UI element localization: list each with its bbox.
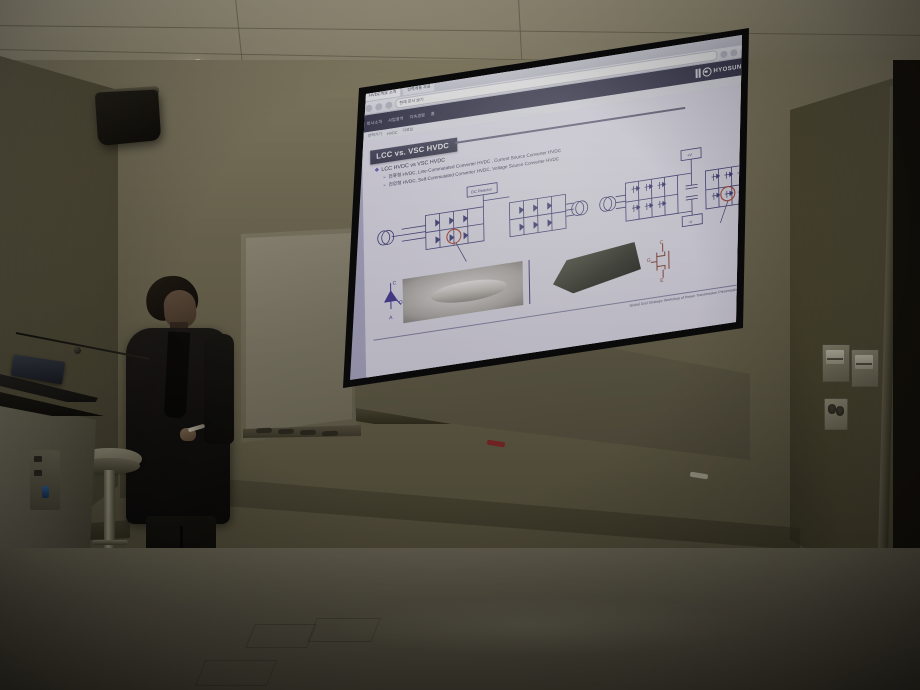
- terminal-c: C: [393, 280, 397, 287]
- presenter-lapel: [164, 331, 190, 418]
- terminal-c: C: [660, 240, 664, 247]
- igbt-symbol: C G E: [646, 235, 681, 286]
- marker: [278, 429, 294, 435]
- outlet-socket: [828, 404, 836, 414]
- outlet-socket: [836, 406, 844, 416]
- stool-footrest: [92, 540, 128, 545]
- terminal-g: G: [647, 258, 651, 265]
- subnav-item[interactable]: 전력기기: [368, 132, 382, 139]
- dc-negative-label: -V: [688, 219, 692, 225]
- terminal-a: A: [389, 315, 393, 322]
- subbullet-marker-icon: ➢: [383, 174, 387, 180]
- floor-tile: [195, 660, 278, 686]
- site-nav-item[interactable]: 홈: [431, 110, 435, 117]
- marker: [322, 431, 338, 437]
- subnav-item[interactable]: HVDC: [387, 130, 398, 136]
- podium-indicator: [42, 486, 49, 498]
- logo-bars-icon: [696, 68, 701, 78]
- account-icon[interactable]: [730, 48, 737, 56]
- address-bar-text: 현재 문서 보기: [399, 97, 423, 107]
- presenter-arm: [204, 334, 234, 444]
- forward-icon[interactable]: [375, 102, 382, 110]
- bookmark-icon[interactable]: [720, 50, 727, 58]
- dc-positive-label: +V: [687, 152, 692, 158]
- wall-speaker-icon: [95, 90, 161, 147]
- podium-button[interactable]: [34, 470, 42, 476]
- logo-mark-icon: [702, 67, 711, 77]
- reload-icon[interactable]: [385, 101, 392, 109]
- microphone-icon: [74, 347, 81, 354]
- site-nav-item[interactable]: 사업영역: [388, 115, 404, 123]
- terminal-g: G: [399, 299, 403, 306]
- podium-button[interactable]: [34, 456, 42, 462]
- dark-doorway: [893, 60, 920, 620]
- marker: [300, 430, 316, 436]
- switch-line: [827, 358, 843, 360]
- floor-reflection: [330, 596, 750, 656]
- igbt-module-photo: [552, 241, 641, 296]
- subbullet-marker-icon: ➢: [383, 182, 387, 188]
- photo-divider: [529, 260, 531, 304]
- back-icon[interactable]: [365, 104, 372, 112]
- light-switch-rocker[interactable]: [826, 350, 844, 364]
- thyristor-symbol: C G A: [376, 277, 407, 328]
- dc-reactor-label: DC Reactor: [471, 186, 493, 194]
- switch-line: [856, 363, 872, 365]
- floor-tile: [245, 624, 317, 648]
- subnav-item[interactable]: 자료실: [403, 127, 414, 134]
- site-nav-item[interactable]: 지속경영: [409, 112, 425, 120]
- bullet-marker-icon: ❖: [374, 167, 379, 174]
- site-nav-item[interactable]: 회사소개: [367, 118, 383, 126]
- light-switch-rocker[interactable]: [855, 355, 873, 369]
- lecture-room-photo: HVDC개요 소개 전력계통 자료 현재 문서 보기: [0, 0, 920, 690]
- terminal-e: E: [660, 278, 664, 285]
